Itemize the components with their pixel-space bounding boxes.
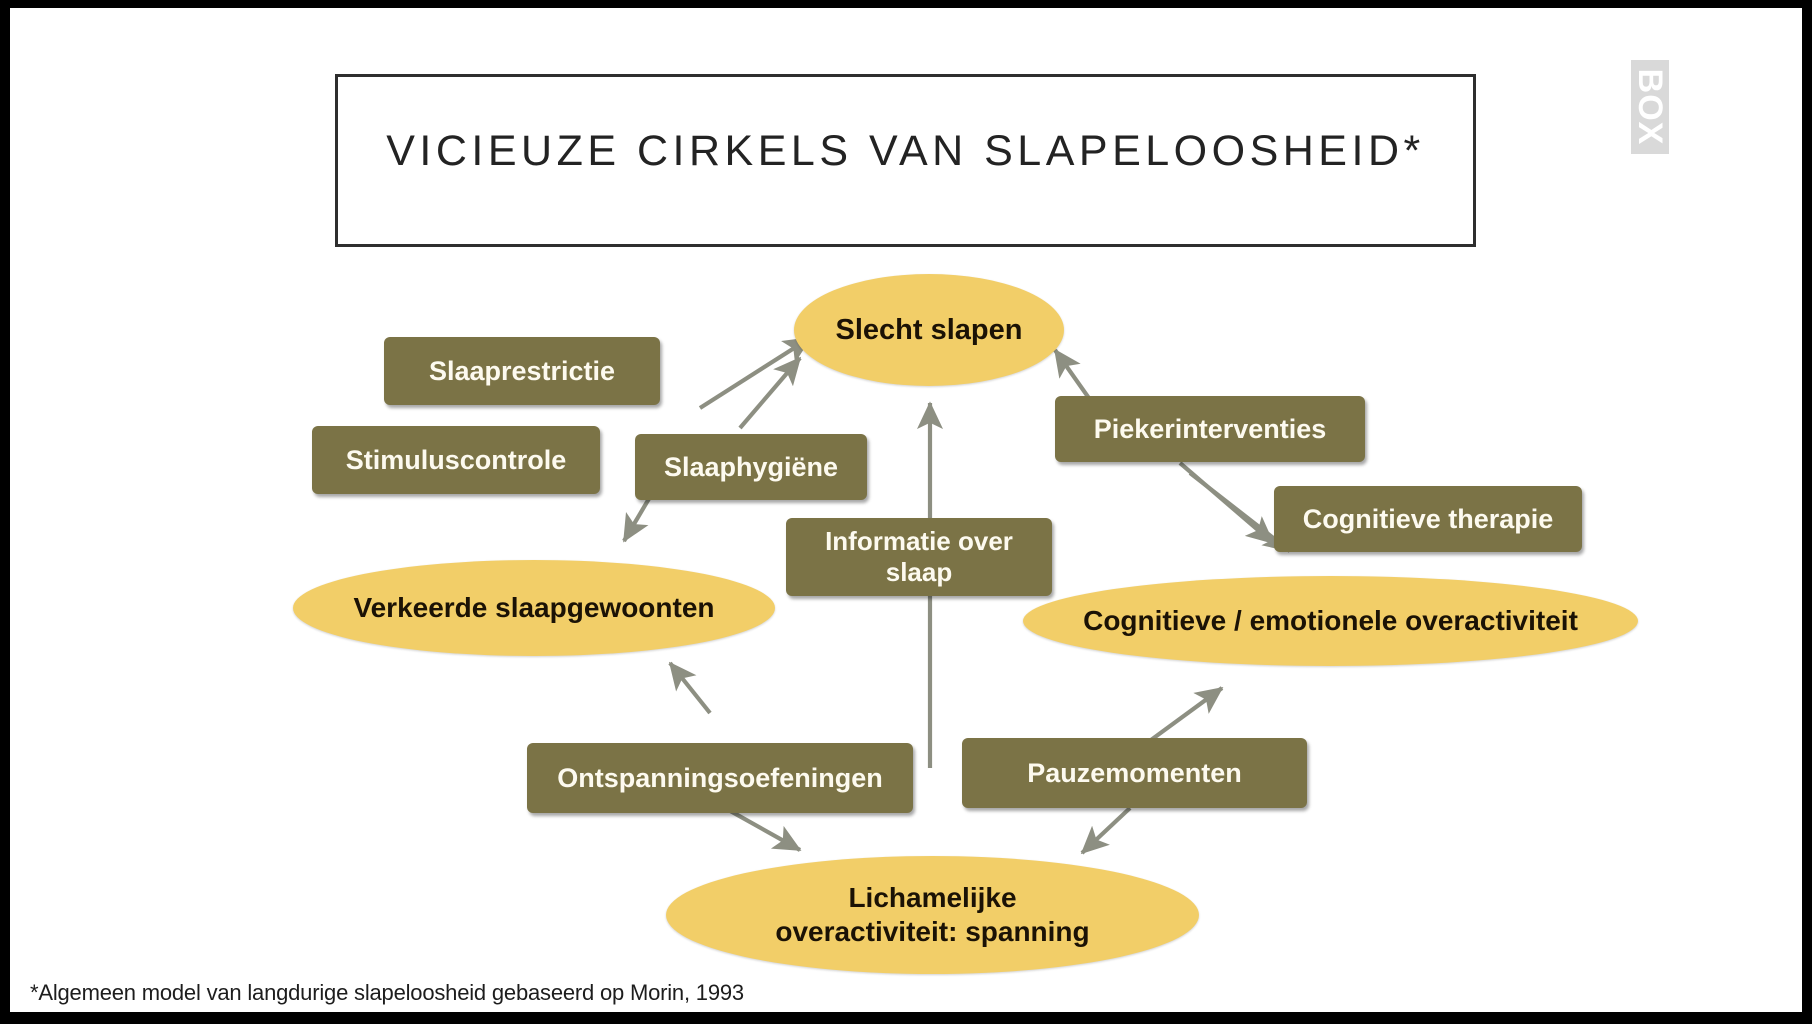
node-label-line1: Lichamelijke (848, 882, 1016, 913)
node-slaaprestrictie[interactable]: Slaaprestrictie (384, 337, 660, 405)
node-lichamelijke-overactiviteit[interactable]: Lichamelijke overactiviteit: spanning (666, 856, 1199, 974)
node-label: Slaaprestrictie (429, 356, 615, 387)
slide-canvas: VICIEUZE CIRKELS VAN SLAPELOOSHEID* BOX (10, 8, 1802, 1012)
node-slaaphygiene[interactable]: Slaaphygiëne (635, 434, 867, 500)
arrow-pieker-to-cognitieve (1180, 463, 1273, 543)
arrow-slaaphygiene-to-slechtslapen (740, 358, 800, 428)
node-label: Stimuluscontrole (346, 445, 567, 476)
node-verkeerde-slaapgewoonten[interactable]: Verkeerde slaapgewoonten (293, 560, 775, 656)
footnote: *Algemeen model van langdurige slapeloos… (30, 980, 744, 1006)
node-cognitieve-therapie[interactable]: Cognitieve therapie (1274, 486, 1582, 552)
node-slecht-slapen[interactable]: Slecht slapen (794, 274, 1064, 386)
arrow-ontspanning-down (725, 808, 800, 850)
node-label: Verkeerde slaapgewoonten (353, 592, 714, 624)
node-label: Cognitieve therapie (1303, 504, 1554, 535)
node-label: Piekerinterventies (1094, 414, 1327, 445)
node-ontspanningsoefeningen[interactable]: Ontspanningsoefeningen (527, 743, 913, 813)
node-pauzemomenten[interactable]: Pauzemomenten (962, 738, 1307, 808)
node-label: Slecht slapen (836, 314, 1023, 347)
node-label: Pauzemomenten (1027, 758, 1242, 789)
node-piekerinterventies[interactable]: Piekerinterventies (1055, 396, 1365, 462)
arrow-pauze-to-lichamelijke (1082, 808, 1130, 853)
node-label: Ontspanningsoefeningen (557, 763, 883, 794)
node-label-line2: overactiviteit: spanning (775, 916, 1089, 947)
node-label: Slaaphygiëne (664, 452, 838, 483)
arrow-slaapgewoonten-to-lichamelijke (670, 663, 710, 713)
node-cognitieve-emotionele-overactiviteit[interactable]: Cognitieve / emotionele overactiviteit (1023, 576, 1638, 666)
node-label-line1: Informatie over (825, 526, 1013, 556)
diagram: Slecht slapen Verkeerde slaapgewoonten C… (10, 8, 1802, 1012)
slide-screen: VICIEUZE CIRKELS VAN SLAPELOOSHEID* BOX (0, 0, 1812, 1024)
node-label-line2: slaap (886, 557, 953, 587)
node-stimuluscontrole[interactable]: Stimuluscontrole (312, 426, 600, 494)
node-informatie-over-slaap[interactable]: Informatie over slaap (786, 518, 1052, 596)
node-label: Informatie over slaap (825, 526, 1013, 587)
node-label: Lichamelijke overactiviteit: spanning (775, 881, 1089, 949)
arrow-slaapgewoonten-to-slechtslapen (700, 338, 810, 408)
node-label: Cognitieve / emotionele overactiviteit (1083, 605, 1578, 637)
